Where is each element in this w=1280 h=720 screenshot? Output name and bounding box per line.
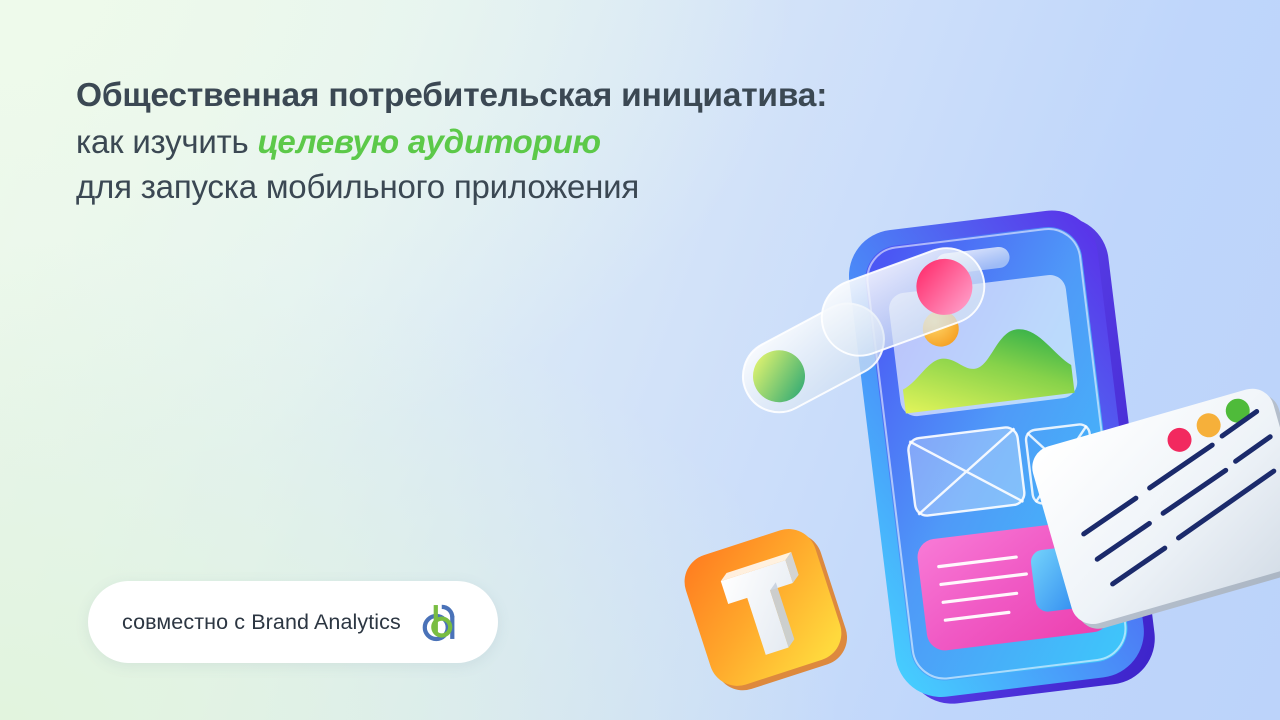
headline-accent: целевую аудиторию	[258, 123, 601, 160]
partner-badge[interactable]: совместно с Brand Analytics	[88, 581, 498, 663]
headline-line-1: Общественная потребительская инициатива:	[76, 74, 1086, 118]
brand-analytics-logo-icon	[417, 600, 461, 644]
poster-canvas: Общественная потребительская инициатива:…	[0, 0, 1280, 720]
illustration-svg	[640, 170, 1280, 720]
partner-badge-label: совместно с Brand Analytics	[122, 610, 401, 635]
mobile-app-illustration	[640, 170, 1280, 720]
text-tool-tile[interactable]	[677, 521, 854, 699]
crossed-box-large	[907, 426, 1026, 517]
headline-line-2: как изучить целевую аудиторию	[76, 121, 1086, 164]
headline-line-2-prefix: как изучить	[76, 123, 258, 160]
